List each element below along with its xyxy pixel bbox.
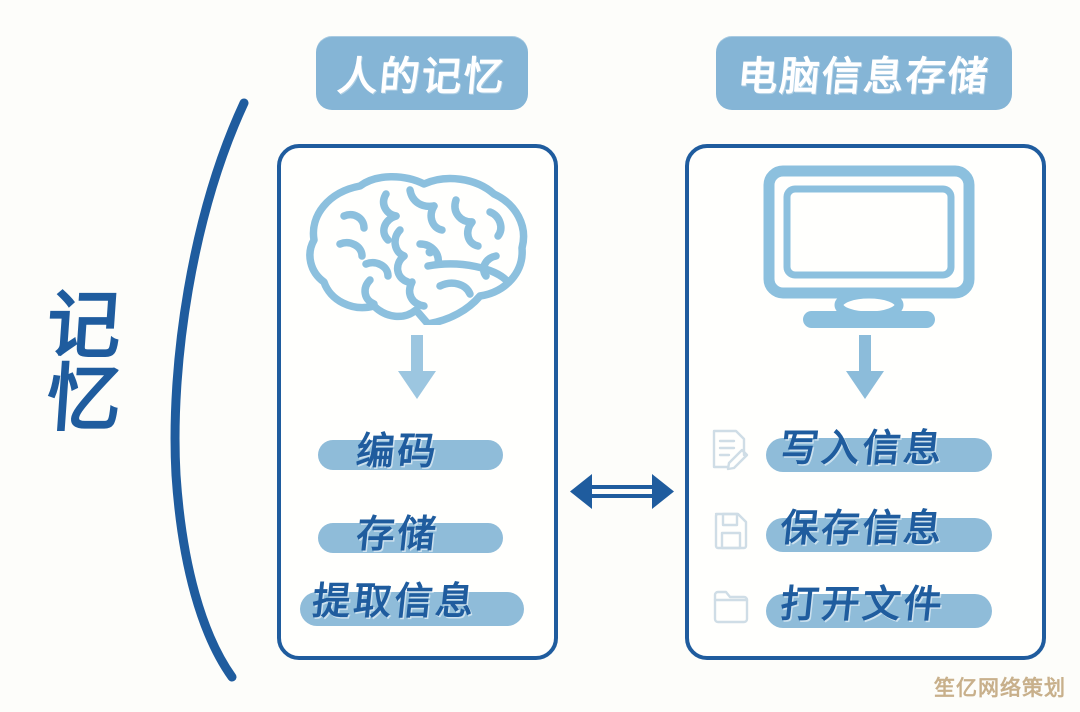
- step-human-store-label: 存储: [357, 503, 439, 558]
- step-computer-open-label: 打开文件: [781, 573, 945, 628]
- step-computer-write-label: 写入信息: [781, 417, 945, 472]
- brain-icon: [300, 160, 535, 325]
- diagram-canvas: 记 忆 人的记忆 电脑信息存储: [0, 0, 1080, 712]
- memory-label-char-1: 记: [25, 290, 142, 363]
- down-arrow-icon: [842, 335, 888, 403]
- floppy-disk-icon: [711, 508, 751, 552]
- header-badge-human-memory: 人的记忆: [316, 36, 528, 110]
- memory-label-char-2: 忆: [25, 363, 142, 436]
- curly-brace-icon: [140, 95, 270, 685]
- header-badge-computer-storage-label: 电脑信息存储: [735, 44, 992, 102]
- down-arrow-icon: [394, 335, 440, 403]
- monitor-icon: [763, 165, 975, 330]
- step-computer-open: 打开文件: [0, 0, 164, 55]
- step-human-encode-label: 编码: [357, 420, 439, 475]
- folder-icon: [711, 584, 751, 628]
- watermark: 笙亿网络策划: [934, 672, 1066, 702]
- document-edit-icon: [709, 427, 749, 471]
- bidirectional-arrow-icon: [566, 468, 678, 516]
- header-badge-computer-storage: 电脑信息存储: [716, 36, 1012, 110]
- step-computer-save-label: 保存信息: [781, 497, 945, 552]
- header-badge-human-memory-label: 人的记忆: [335, 44, 508, 102]
- memory-bracket-label: 记 忆: [28, 290, 140, 435]
- step-human-retrieve-label: 提取信息: [313, 570, 477, 625]
